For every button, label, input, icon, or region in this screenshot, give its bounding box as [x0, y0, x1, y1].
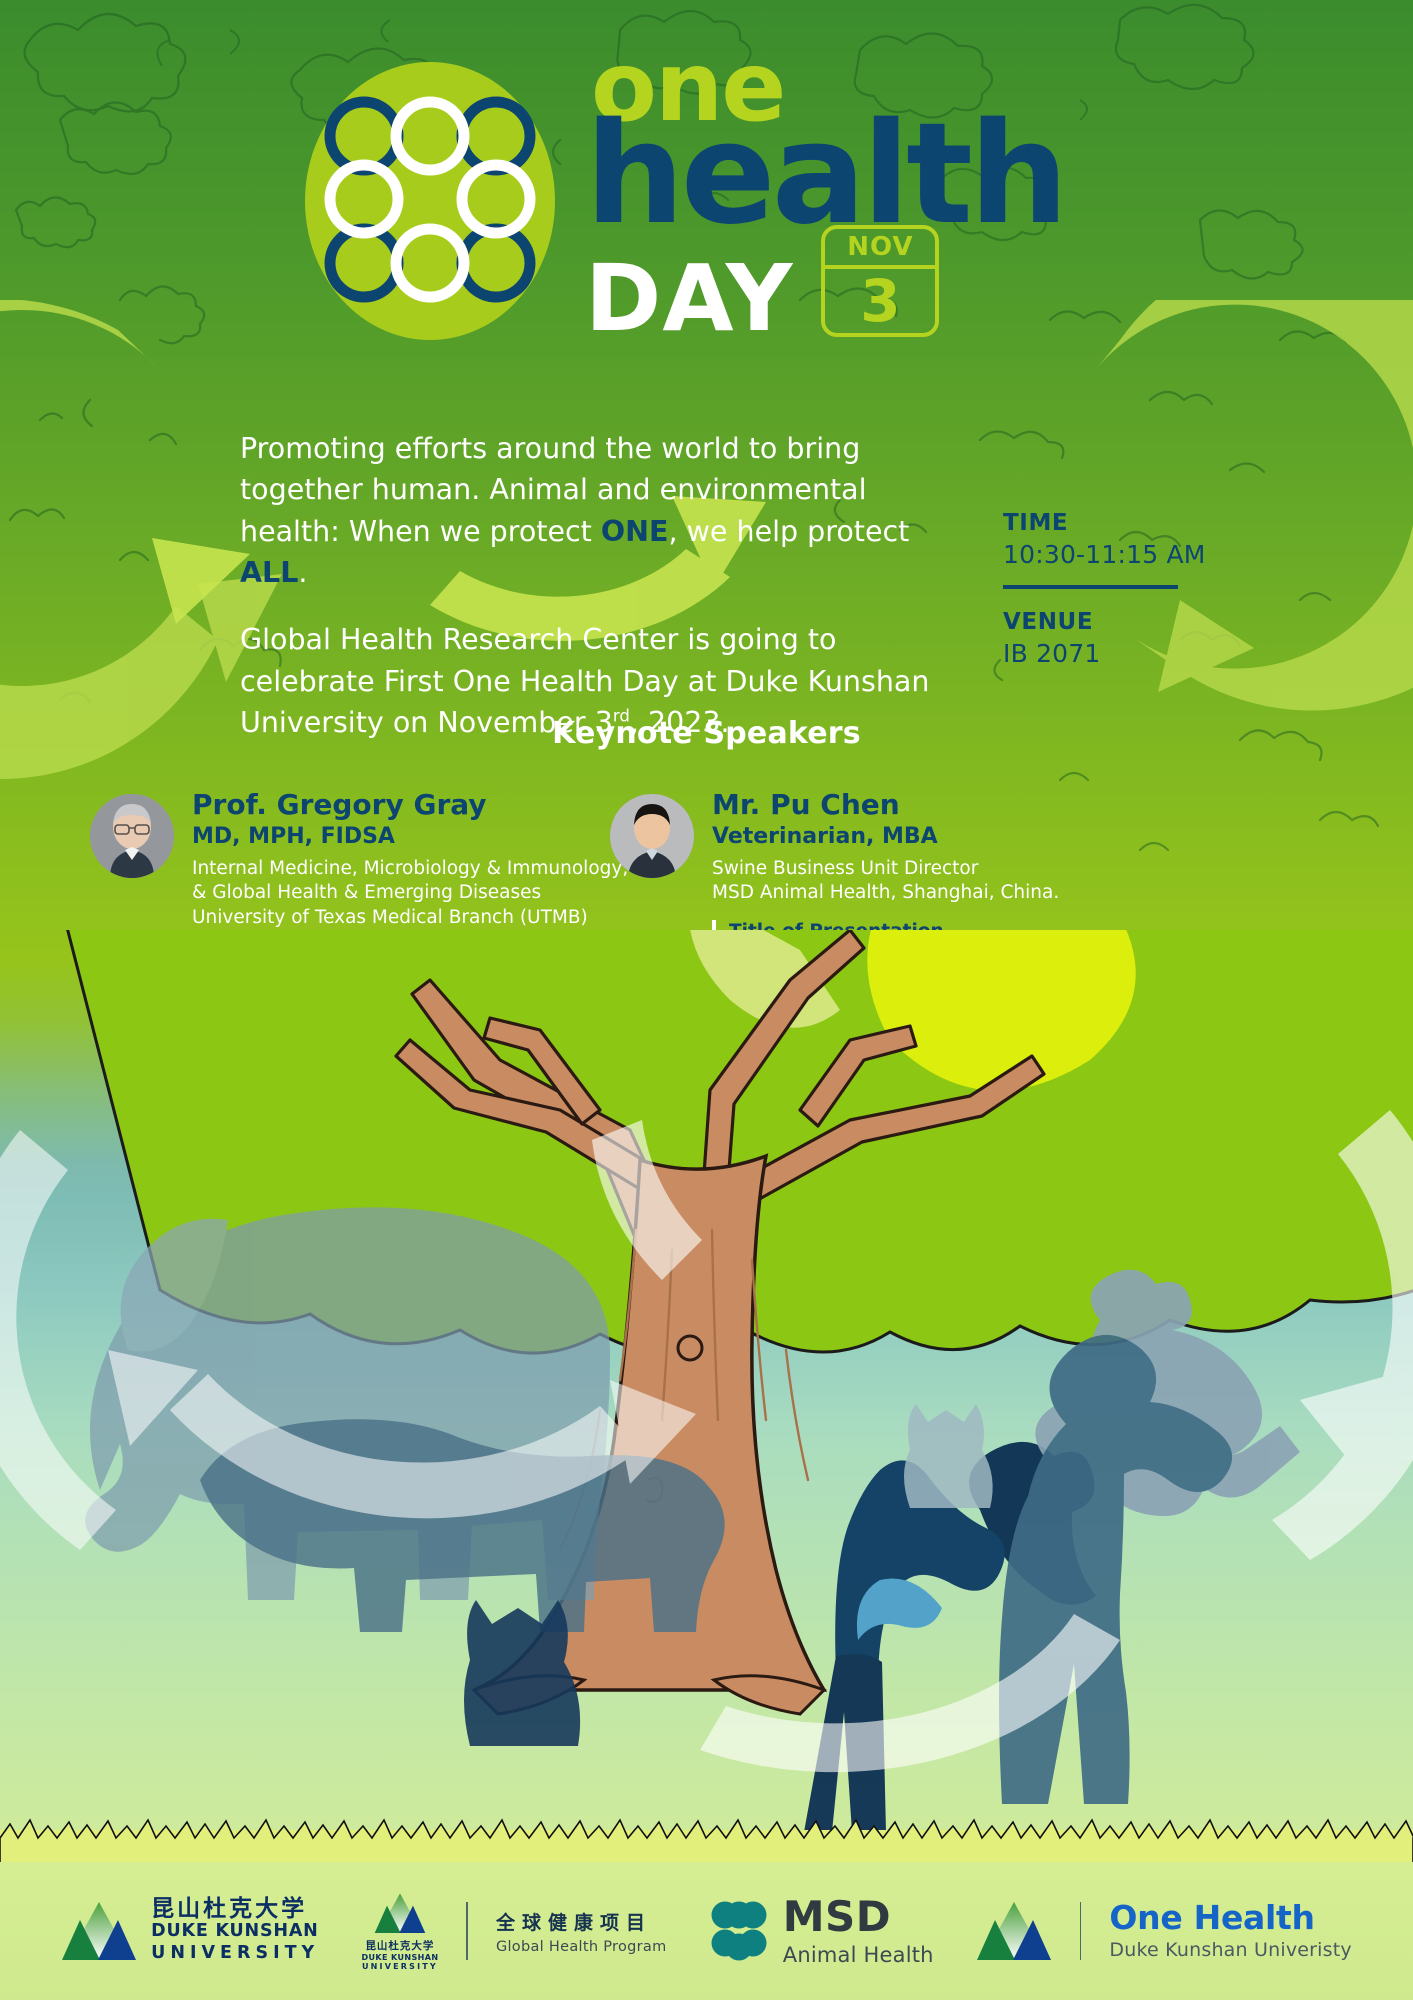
logo-global-health-program: 昆山杜克大学 DUKE KUNSHAN UNIVERSITY 全球健康项目 Gl… [361, 1892, 666, 1971]
ghp-divider [466, 1902, 468, 1960]
one-health-day-wordmark: one health DAY NOV 3 [585, 48, 1065, 343]
speaker-affiliation-line-3: University of Texas Medical Branch (UTMB… [192, 906, 660, 931]
logo-msd-animal-health: MSD Animal Health [709, 1896, 934, 1967]
calendar-month: NOV [825, 229, 935, 269]
blurb-p1-part2: , we help protect [668, 515, 909, 548]
poster-header: one health DAY NOV 3 [0, 0, 1413, 330]
msd-tagline: Animal Health [783, 1943, 934, 1967]
speaker-affiliation-line-2: & Global Health & Emerging Diseases [192, 881, 660, 906]
cycle-arrows-bottom [0, 1050, 1413, 1850]
blurb-p1-part3: . [298, 556, 307, 589]
msd-cross-icon [709, 1899, 769, 1963]
one-health-wordmark: One Health [1109, 1901, 1351, 1934]
speaker-affiliation-line-2: MSD Animal Health, Shanghai, China. [712, 881, 1069, 906]
speaker-credentials: Veterinarian, MBA [712, 824, 1069, 849]
speaker-affiliation-line-1: Swine Business Unit Director [712, 857, 1069, 882]
avatar [610, 794, 694, 878]
dku-name-chinese: 昆山杜克大学 [151, 1897, 319, 1921]
speaker-name: Mr. Pu Chen [712, 790, 1069, 821]
speaker-credentials: MD, MPH, FIDSA [192, 824, 660, 849]
venue-label: VENUE [1003, 609, 1213, 635]
msd-wordmark: MSD [783, 1896, 934, 1938]
dku-name-english-line-1: DUKE KUNSHAN [151, 1921, 319, 1943]
speaker-affiliation-line-1: Internal Medicine, Microbiology & Immuno… [192, 857, 660, 882]
speaker-affiliation: Swine Business Unit Director MSD Animal … [712, 857, 1069, 906]
ghp-dku-name-english-line-2: UNIVERSITY [362, 1962, 438, 1971]
event-details: TIME 10:30-11:15 AM VENUE IB 2071 [1003, 510, 1213, 668]
wordmark-health: health [585, 119, 1065, 231]
one-health-day-poster: one health DAY NOV 3 [0, 0, 1413, 2000]
ghp-dku-lockup: 昆山杜克大学 DUKE KUNSHAN UNIVERSITY [361, 1892, 438, 1971]
blurb-emphasis-all: ALL [240, 556, 298, 589]
speaker-affiliation: Internal Medicine, Microbiology & Immuno… [192, 857, 660, 931]
dku-name-english-line-2: UNIVERSITY [151, 1943, 319, 1965]
dku-mountain-icon [976, 1900, 1052, 1962]
dku-mountain-icon [374, 1892, 426, 1936]
time-label: TIME [1003, 510, 1213, 536]
details-divider [1003, 585, 1178, 589]
ghp-dku-name-chinese: 昆山杜克大学 [365, 1938, 434, 1953]
keynote-speakers-heading: Keynote Speakers [0, 716, 1413, 751]
venue-value: IB 2071 [1003, 639, 1213, 668]
one-health-rings-icon [320, 92, 540, 307]
blurb-emphasis-one: ONE [601, 515, 669, 548]
ghp-name-english: Global Health Program [496, 1939, 667, 1955]
blurb-paragraph-1: Promoting efforts around the world to br… [240, 428, 940, 593]
one-health-subtitle: Duke Kunshan Univeristy [1109, 1939, 1351, 1961]
avatar [90, 794, 174, 878]
speaker-name: Prof. Gregory Gray [192, 790, 660, 821]
one-health-divider [1080, 1902, 1082, 1960]
logo-duke-kunshan-university: 昆山杜克大学 DUKE KUNSHAN UNIVERSITY [61, 1897, 319, 1965]
footer-logo-bar: 昆山杜克大学 DUKE KUNSHAN UNIVERSITY [0, 1862, 1413, 2000]
time-value: 10:30-11:15 AM [1003, 540, 1213, 569]
intro-blurb: Promoting efforts around the world to br… [240, 428, 940, 743]
logo-one-health-dku: One Health Duke Kunshan Univeristy [976, 1900, 1352, 1962]
ghp-dku-name-english-line-1: DUKE KUNSHAN [361, 1953, 438, 1962]
ghp-name-chinese: 全球健康项目 [496, 1908, 667, 1935]
dku-mountain-icon [61, 1900, 137, 1962]
